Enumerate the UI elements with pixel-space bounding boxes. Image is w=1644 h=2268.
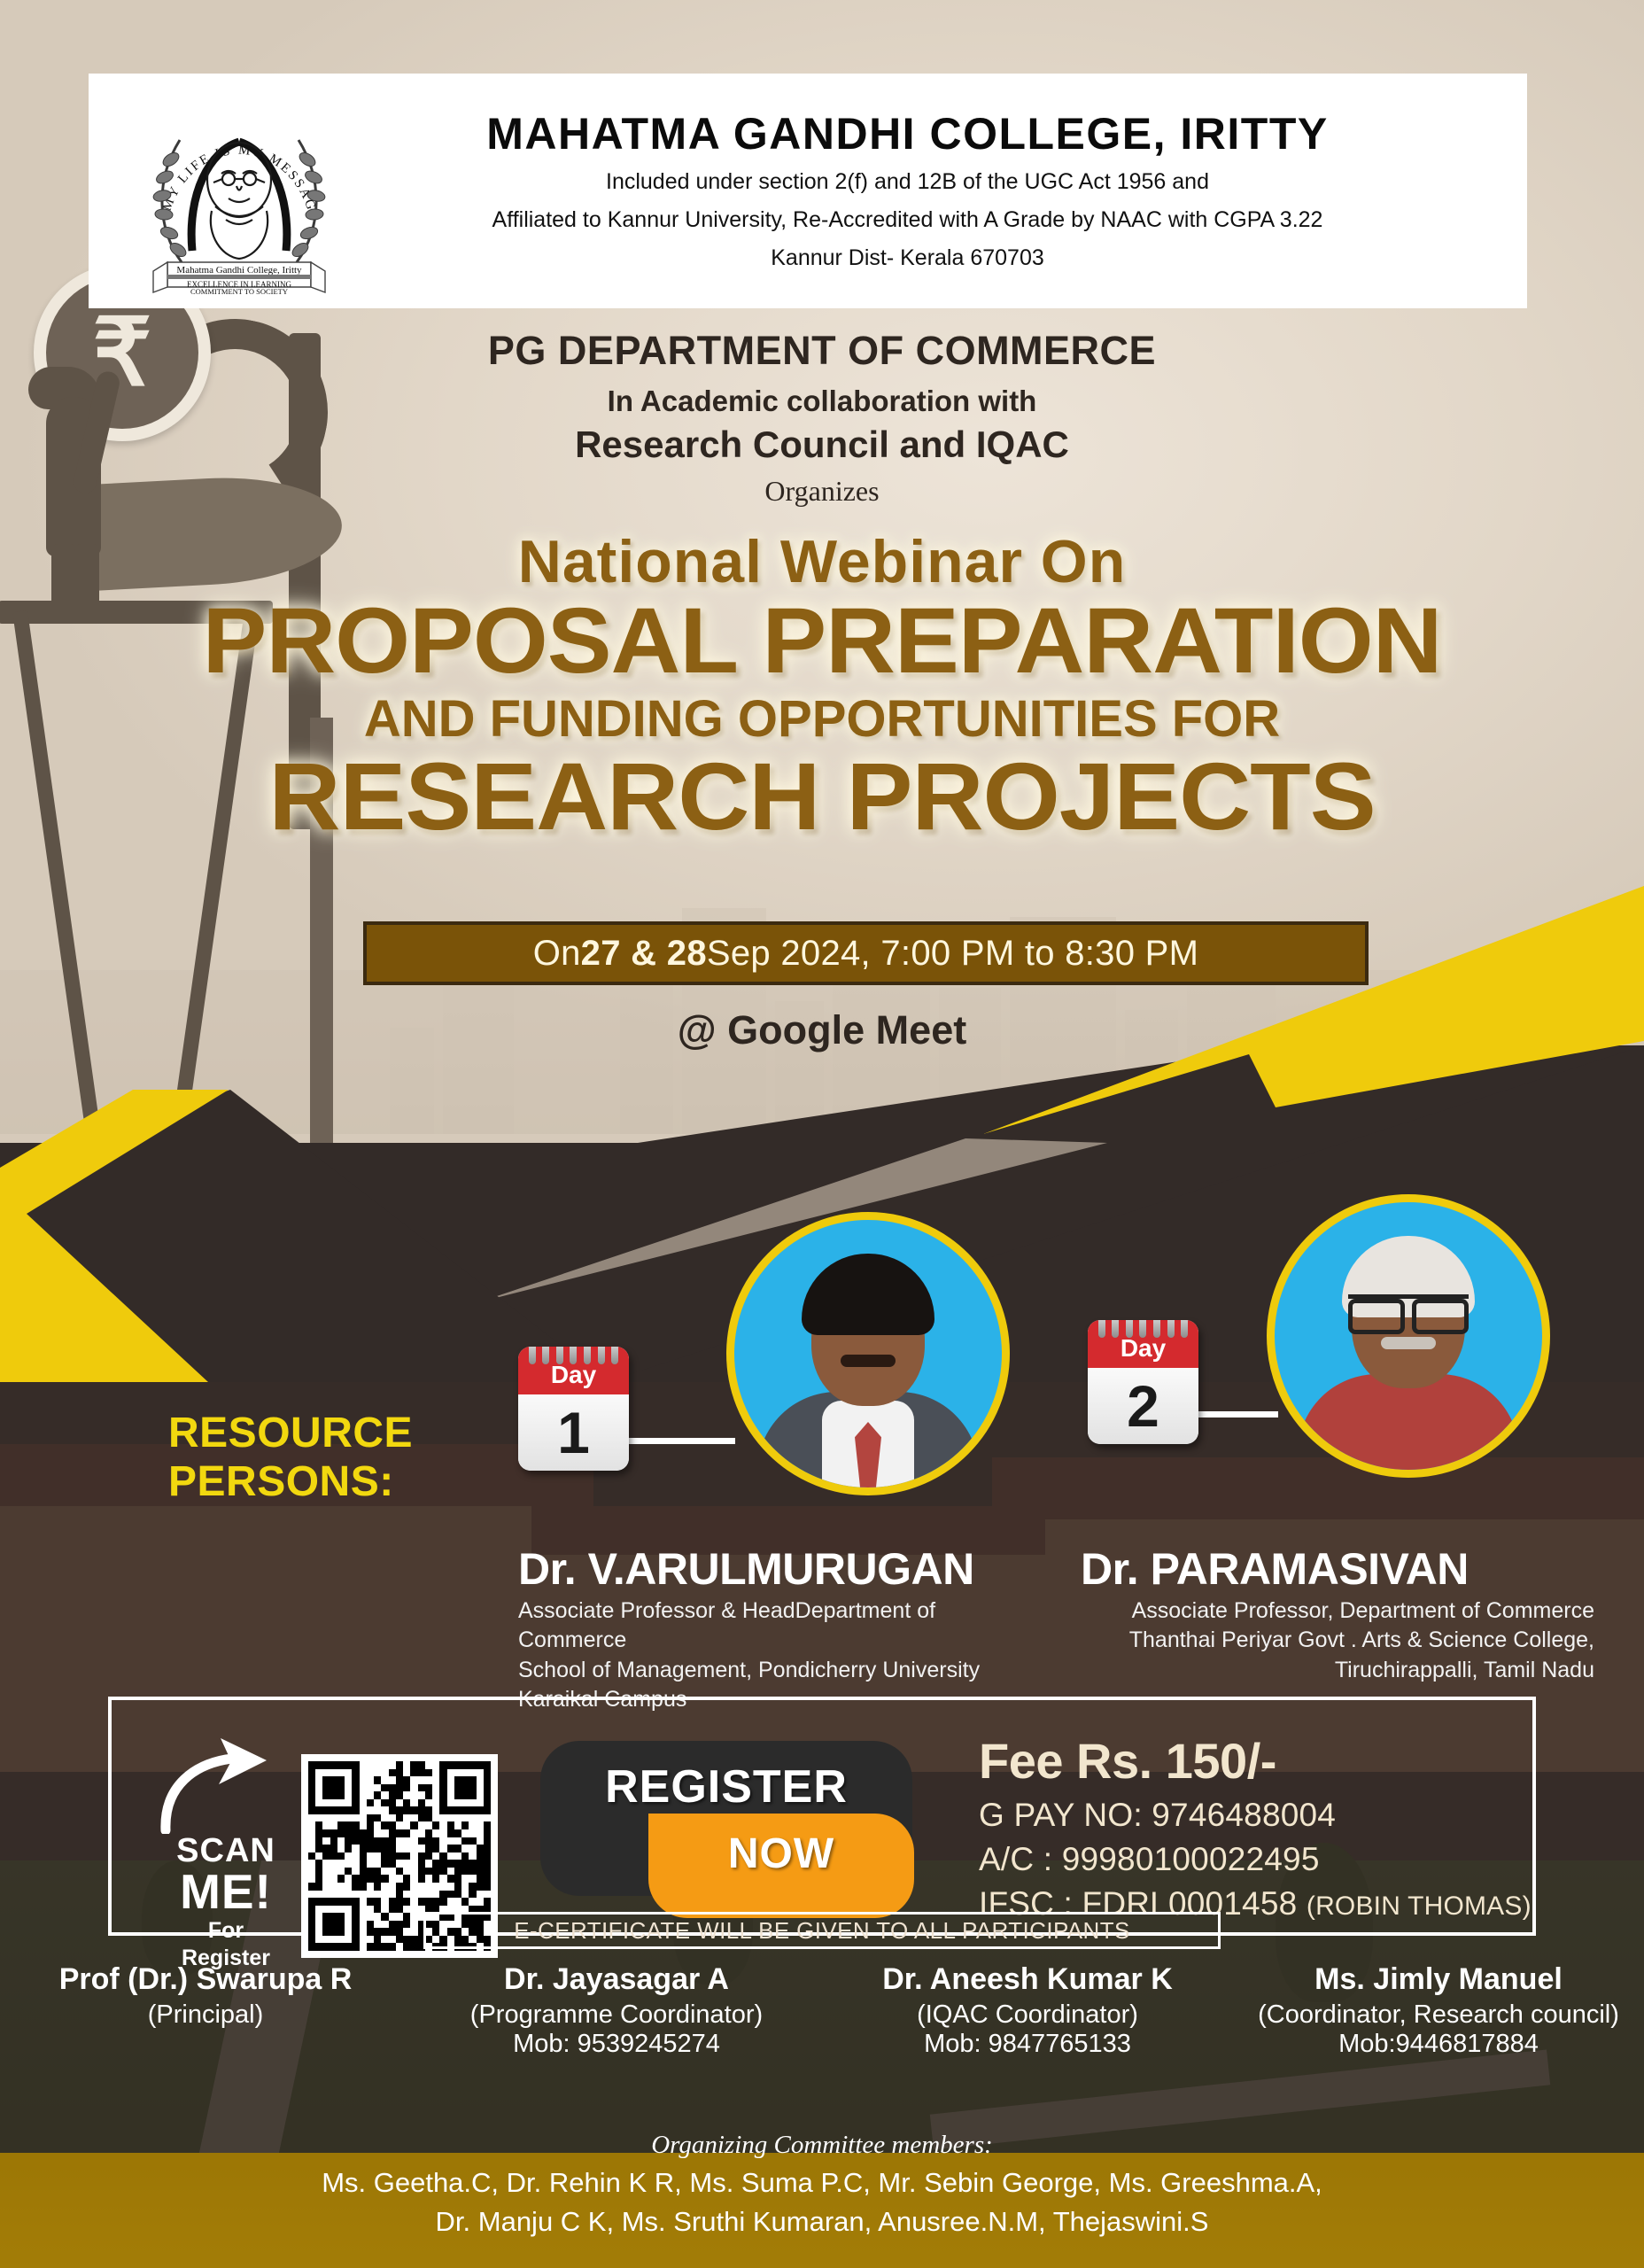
organizing-committee-title: Organizing Committee members:	[0, 2131, 1644, 2160]
date-prefix: On	[533, 934, 581, 974]
scan-label-line1: SCAN	[142, 1834, 310, 1868]
svg-text:COMMITMENT TO SOCIETY: COMMITMENT TO SOCIETY	[190, 287, 288, 295]
date-days: 27 & 28	[581, 934, 707, 974]
speaker-2-desc-line3: Tiruchirappalli, Tamil Nadu	[1045, 1656, 1594, 1685]
contact-role: (IQAC Coordinator)	[822, 2000, 1233, 2030]
speaker-1-desc-line2: School of Management, Pondicherry Univer…	[518, 1656, 1050, 1685]
college-name: MAHATMA GANDHI COLLEGE, IRITTY	[341, 108, 1474, 159]
organizing-committee-line-2: Dr. Manju C K, Ms. Sruthi Kumaran, Anusr…	[0, 2206, 1644, 2238]
connector-line-1	[624, 1438, 735, 1444]
organizing-committee-block: Organizing Committee members: Ms. Geetha…	[0, 2131, 1644, 2238]
account-holder: (ROBIN THOMAS)	[1307, 1891, 1532, 1921]
college-accreditation-line-2: Affiliated to Kannur University, Re-Accr…	[341, 206, 1474, 236]
fee-payment-block: Fee Rs. 150/- G PAY NO: 9746488004 A/C :…	[979, 1732, 1532, 1922]
connector-line-2	[1194, 1411, 1278, 1417]
collaboration-partners: Research Council and IQAC	[0, 423, 1644, 466]
contacts-row: Prof (Dr.) Swarupa R (Principal) Dr. Jay…	[0, 1962, 1644, 2059]
contact-name: Ms. Jimly Manuel	[1233, 1962, 1644, 1997]
speaker-name-1: Dr. V.ARULMURUGAN	[518, 1543, 974, 1595]
speaker-name-2: Dr. PARAMASIVAN	[1081, 1543, 1469, 1595]
contact-name: Dr. Jayasagar A	[411, 1962, 822, 1997]
curved-arrow-icon	[155, 1736, 297, 1834]
contact-card: Ms. Jimly Manuel (Coordinator, Research …	[1233, 1962, 1644, 2059]
contact-role: (Coordinator, Research council)	[1233, 2000, 1644, 2030]
contact-card: Dr. Aneesh Kumar K (IQAC Coordinator) Mo…	[822, 1962, 1233, 2059]
account-number: A/C : 99980100022495	[979, 1841, 1532, 1878]
organizes-word: Organizes	[0, 475, 1644, 508]
svg-text:MY LIFE IS MY MESSAGE: MY LIFE IS MY MESSAGE	[160, 143, 322, 222]
e-certificate-note: E-CERTIFICATE WILL BE GIVEN TO ALL PARTI…	[423, 1912, 1221, 1949]
speaker-2-desc-line2: Thanthai Periyar Govt . Arts & Science C…	[1045, 1626, 1594, 1655]
title-line-1: National Webinar On	[0, 527, 1644, 596]
register-button-bottom-label: NOW	[648, 1829, 914, 1878]
register-button-top-label: REGISTER	[540, 1760, 912, 1814]
speaker-photo-2	[1267, 1194, 1550, 1478]
resource-persons-label-line1: RESOURCE	[168, 1409, 413, 1457]
venue-label: @ Google Meet	[0, 1007, 1644, 1053]
contact-card: Dr. Jayasagar A (Programme Coordinator) …	[411, 1962, 822, 2059]
resource-persons-label-line2: PERSONS:	[168, 1457, 413, 1506]
speaker-2-desc-line1: Associate Professor, Department of Comme…	[1045, 1596, 1594, 1626]
contact-name: Dr. Aneesh Kumar K	[822, 1962, 1233, 1997]
college-logo: MY LIFE IS MY MESSAGE	[137, 87, 341, 295]
scan-label-line2: ME!	[142, 1868, 310, 1916]
calendar-day-2-icon: Day 2	[1088, 1320, 1198, 1444]
scan-label-line3: For	[142, 1918, 310, 1944]
gpay-number: G PAY NO: 9746488004	[979, 1797, 1532, 1834]
contact-mobile: Mob: 9539245274	[411, 2030, 822, 2059]
college-header-card: MY LIFE IS MY MESSAGE	[89, 74, 1527, 308]
speaker-photo-1	[726, 1212, 1010, 1495]
date-rest: Sep 2024, 7:00 PM to 8:30 PM	[707, 934, 1198, 974]
department-name: PG DEPARTMENT OF COMMERCE	[0, 328, 1644, 374]
speaker-1-desc-line1: Associate Professor & HeadDepartment of …	[518, 1596, 1050, 1656]
contact-name: Prof (Dr.) Swarupa R	[0, 1962, 411, 1997]
college-address: Kannur Dist- Kerala 670703	[341, 244, 1474, 274]
calendar-day-number-2: 2	[1088, 1368, 1198, 1444]
register-now-button[interactable]: REGISTER NOW	[540, 1741, 912, 1896]
speaker-details-2: Associate Professor, Department of Comme…	[1045, 1596, 1594, 1685]
date-time-banner: On 27 & 28 Sep 2024, 7:00 PM to 8:30 PM	[363, 921, 1369, 985]
webinar-poster: ₹	[0, 0, 1644, 2268]
calendar-day-number-1: 1	[518, 1394, 629, 1471]
resource-persons-label: RESOURCE PERSONS:	[168, 1409, 413, 1506]
contact-mobile: Mob: 9847765133	[822, 2030, 1233, 2059]
organizing-committee-line-1: Ms. Geetha.C, Dr. Rehin K R, Ms. Suma P.…	[0, 2167, 1644, 2199]
calendar-day-1-icon: Day 1	[518, 1347, 629, 1471]
collaboration-prefix: In Academic collaboration with	[0, 384, 1644, 418]
contact-role: (Programme Coordinator)	[411, 2000, 822, 2030]
title-line-3: AND FUNDING OPPORTUNITIES FOR	[0, 689, 1644, 749]
fee-amount: Fee Rs. 150/-	[979, 1732, 1532, 1790]
scan-me-block: SCAN ME! For Register	[142, 1736, 310, 1971]
calendar-rings	[1088, 1320, 1198, 1338]
contact-role: (Principal)	[0, 2000, 411, 2030]
svg-text:Mahatma Gandhi College, Iritty: Mahatma Gandhi College, Iritty	[176, 265, 302, 276]
contact-mobile: Mob:9446817884	[1233, 2030, 1644, 2059]
contact-card: Prof (Dr.) Swarupa R (Principal)	[0, 1962, 411, 2059]
college-accreditation-line-1: Included under section 2(f) and 12B of t…	[341, 167, 1474, 198]
title-line-4: RESEARCH PROJECTS	[0, 749, 1644, 844]
organizer-block: PG DEPARTMENT OF COMMERCE In Academic co…	[0, 328, 1644, 508]
webinar-title-block: National Webinar On PROPOSAL PREPARATION…	[0, 527, 1644, 844]
title-line-2: PROPOSAL PREPARATION	[0, 596, 1644, 687]
calendar-rings	[518, 1347, 629, 1364]
